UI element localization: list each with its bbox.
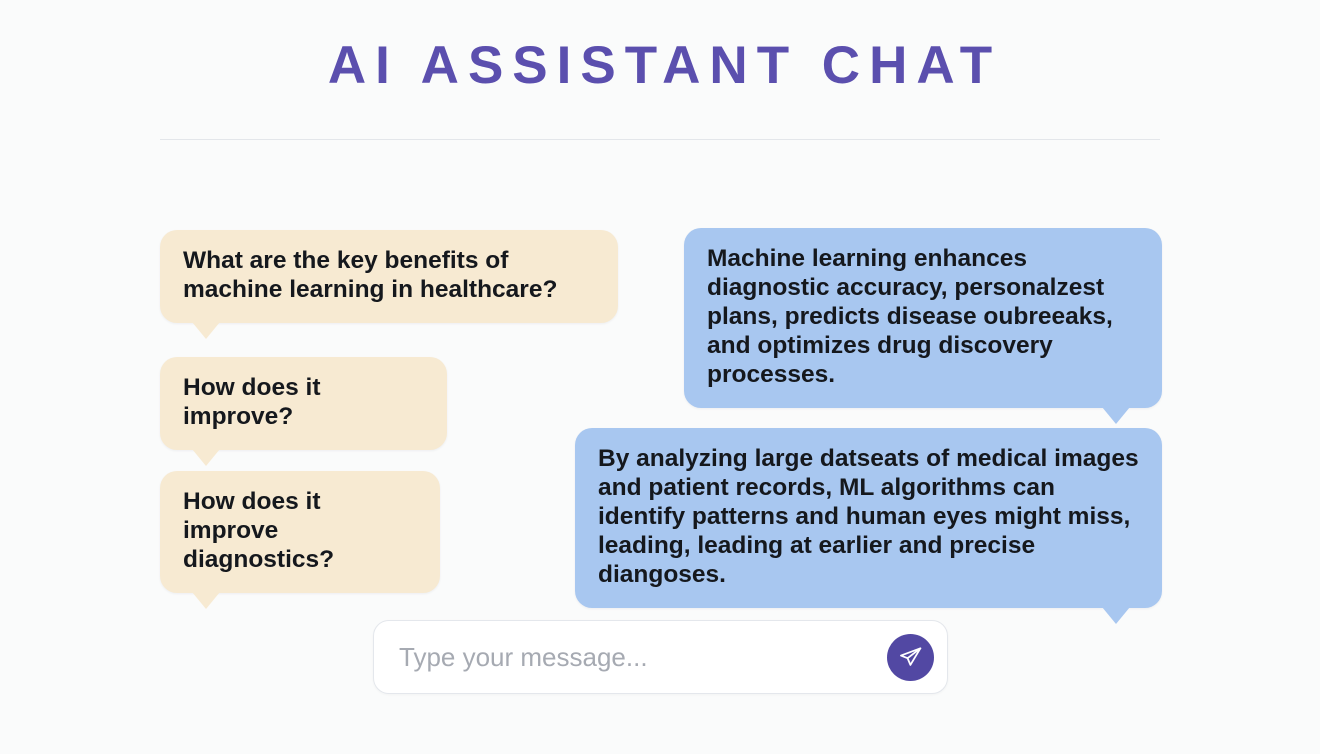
message-row-assistant: By analyzing large datseats of medical i… (575, 428, 1162, 608)
message-composer (373, 620, 948, 694)
message-input[interactable] (399, 642, 887, 673)
send-button[interactable] (887, 634, 934, 681)
message-row-user: How does it improve? (160, 357, 447, 450)
page-title: AI ASSISTANT CHAT (0, 38, 1320, 94)
message-row-user: What are the key benefits of machine lea… (160, 230, 618, 323)
chat-bubble-text: What are the key benefits of machine lea… (183, 247, 557, 303)
app-header: AI ASSISTANT CHAT (0, 0, 1320, 140)
chat-bubble-user[interactable]: How does it improve diagnostics? (160, 471, 440, 593)
chat-bubble-assistant[interactable]: By analyzing large datseats of medical i… (575, 428, 1162, 608)
chat-bubble-text: Machine learning enhances diagnostic acc… (707, 245, 1113, 388)
message-row-assistant: Machine learning enhances diagnostic acc… (684, 228, 1162, 408)
header-divider (160, 139, 1160, 140)
chat-bubble-user[interactable]: How does it improve? (160, 357, 447, 450)
chat-bubble-text: How does it improve? (183, 374, 320, 430)
chat-bubble-text: How does it improve diagnostics? (183, 488, 334, 573)
paper-plane-icon (898, 645, 923, 670)
chat-bubble-assistant[interactable]: Machine learning enhances diagnostic acc… (684, 228, 1162, 408)
message-row-user: How does it improve diagnostics? (160, 471, 440, 593)
chat-bubble-user[interactable]: What are the key benefits of machine lea… (160, 230, 618, 323)
chat-app-page: AI ASSISTANT CHAT What are the key benef… (0, 0, 1320, 754)
chat-bubble-text: By analyzing large datseats of medical i… (598, 445, 1139, 588)
